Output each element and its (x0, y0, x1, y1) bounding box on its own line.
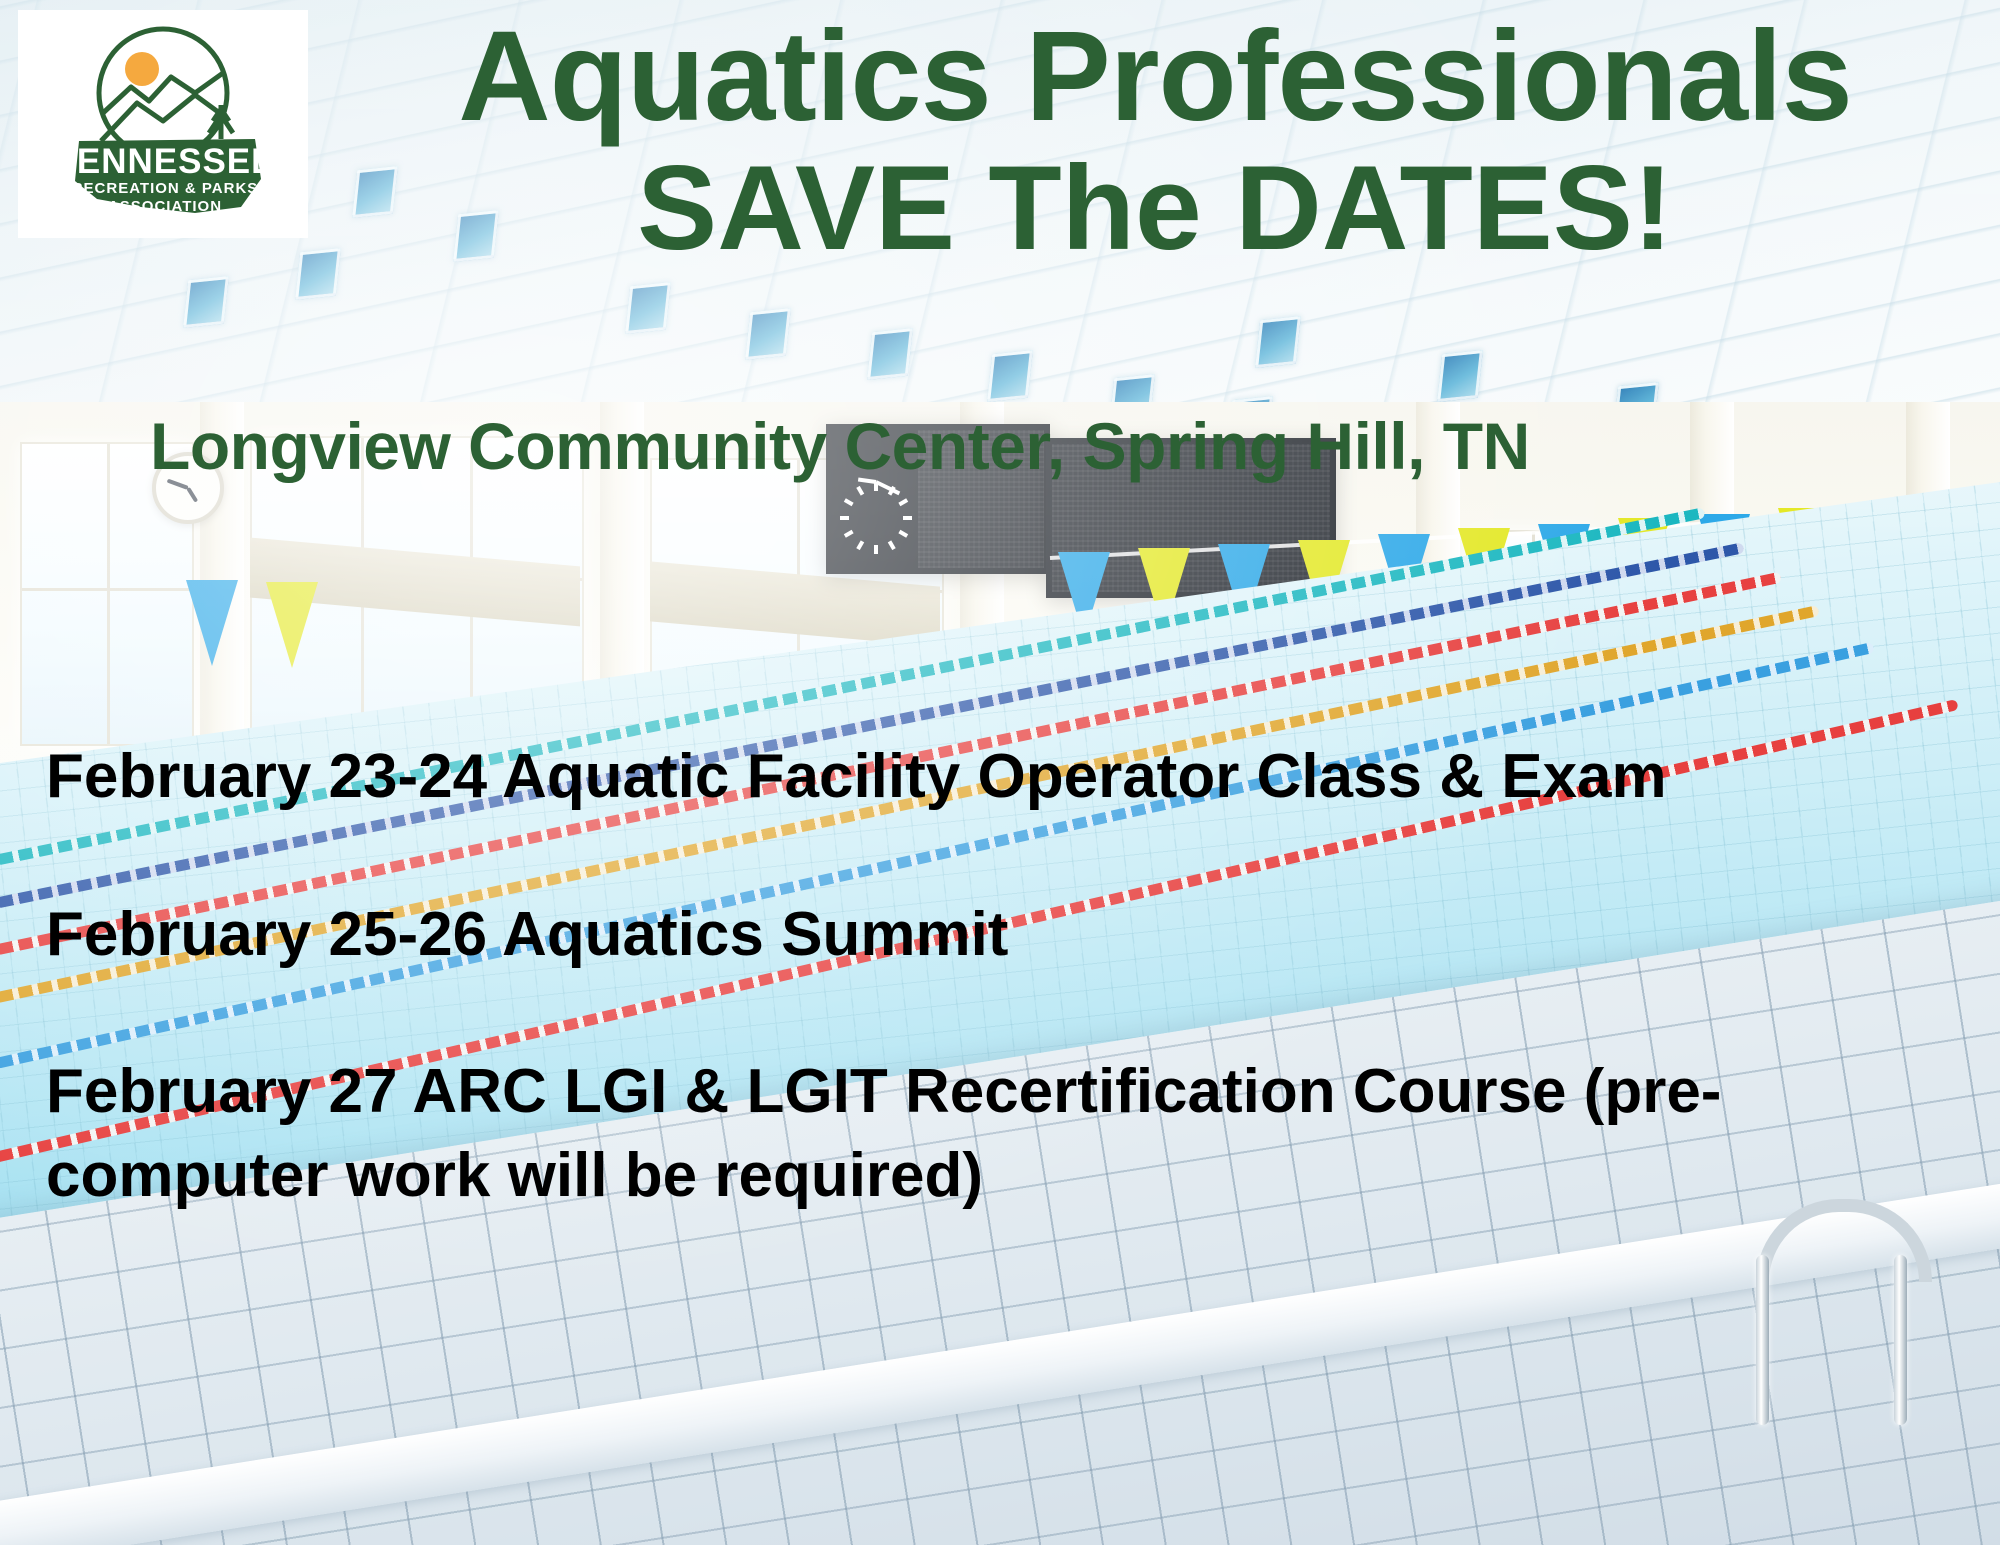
flyer-content: TENNESSEE RECREATION & PARKS ASSOCIATION… (0, 0, 2000, 1545)
trpa-logo-icon: TENNESSEE RECREATION & PARKS ASSOCIATION (45, 21, 281, 227)
date-item: February 27 ARC LGI & LGIT Recertificati… (46, 1050, 1960, 1217)
venue-line: Longview Community Center, Spring Hill, … (150, 412, 1530, 481)
headline-line1: Aquatics Professionals (458, 5, 1852, 148)
trpa-logo: TENNESSEE RECREATION & PARKS ASSOCIATION (18, 10, 308, 238)
logo-org-line1: TENNESSEE (55, 142, 276, 181)
sun-icon (125, 52, 159, 86)
date-item: February 25-26 Aquatics Summit (46, 893, 1960, 977)
headline: Aquatics Professionals SAVE The DATES! (320, 12, 1990, 269)
date-item: February 23-24 Aquatic Facility Operator… (46, 735, 1960, 819)
aquatics-save-the-dates-flyer: TENNESSEE RECREATION & PARKS ASSOCIATION… (0, 0, 2000, 1545)
headline-line2: SAVE The DATES! (320, 147, 1990, 269)
date-list: February 23-24 Aquatic Facility Operator… (46, 735, 1960, 1218)
logo-org-line3: ASSOCIATION (108, 198, 222, 215)
logo-org-line2: RECREATION & PARKS (72, 180, 259, 197)
